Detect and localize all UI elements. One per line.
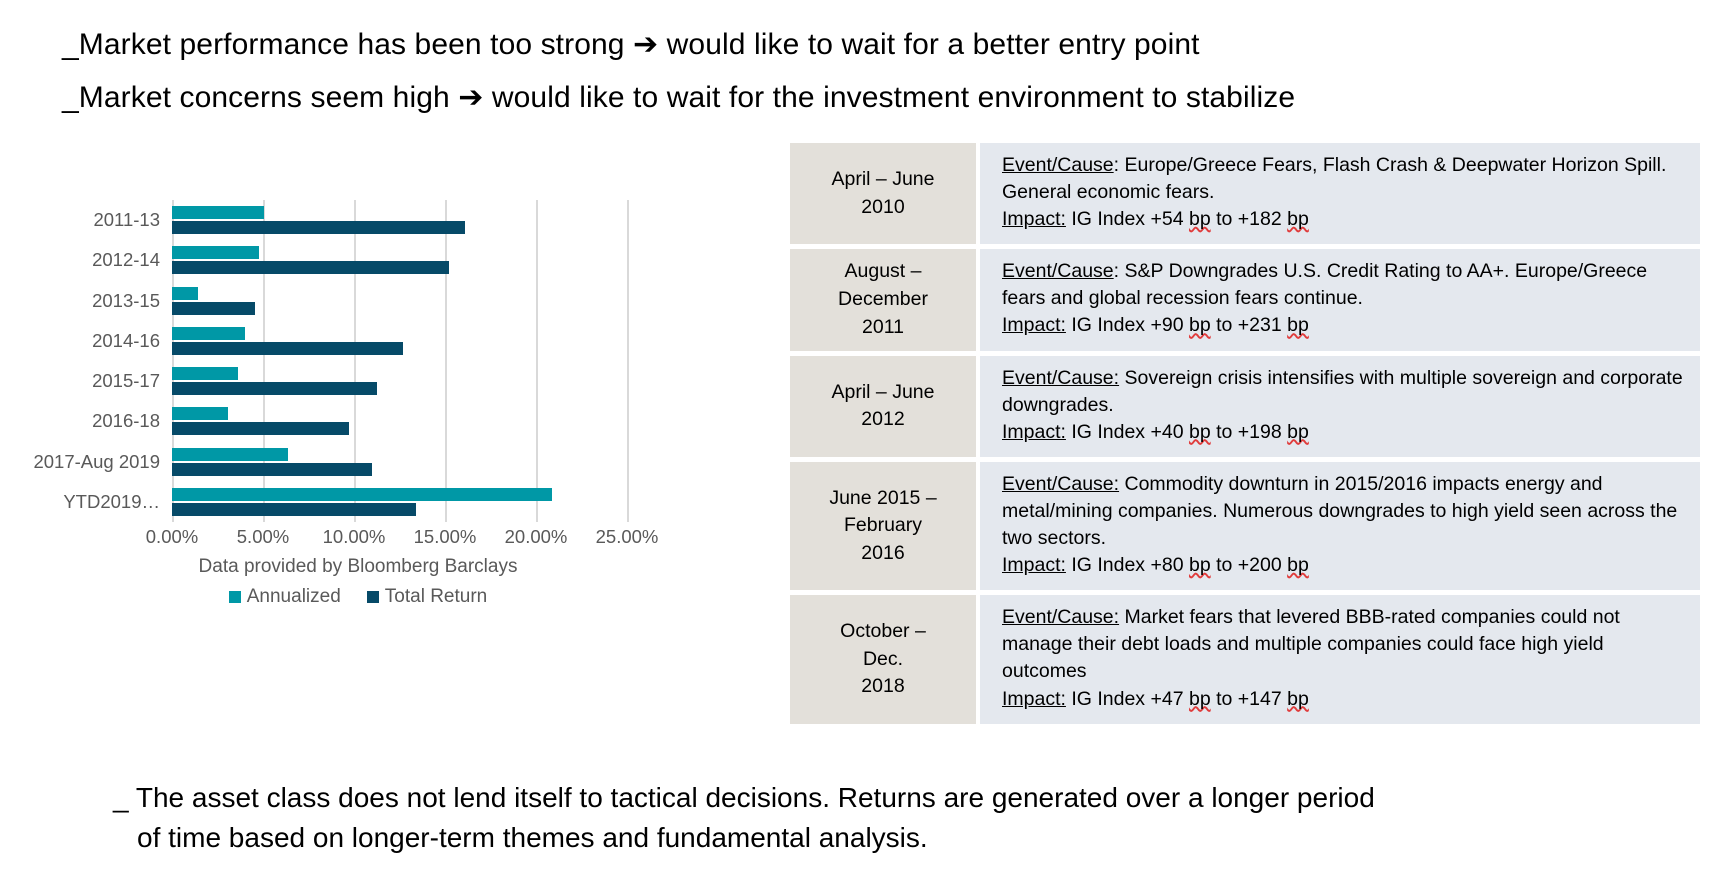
chart-category-label: 2016-18 <box>92 410 160 432</box>
chart-x-axis: 0.00%5.00%10.00%15.00%20.00%25.00% <box>172 526 627 552</box>
table-row: April – June 2012Event/Cause: Sovereign … <box>790 356 1700 457</box>
event-impact-line: Impact: IG Index +40 bp to +198 bp <box>1002 419 1688 446</box>
chart-x-tick-label: 10.00% <box>323 526 386 548</box>
chart-category-row: 2012-14 <box>172 240 627 280</box>
chart-category-label: 2015-17 <box>92 370 160 392</box>
event-cause-label: Event/Cause: <box>1002 367 1119 389</box>
chart-category-row: 2016-18 <box>172 401 627 441</box>
event-cause-line: Event/Cause: Europe/Greece Fears, Flash … <box>1002 152 1688 206</box>
legend-swatch-icon <box>229 591 241 603</box>
event-cause-label: Event/Cause: <box>1002 606 1119 628</box>
chart-category-row: YTD2019… <box>172 482 627 522</box>
event-cause-line: Event/Cause: Commodity downturn in 2015/… <box>1002 471 1688 552</box>
chart-x-tick-label: 25.00% <box>596 526 659 548</box>
event-impact-line: Impact: IG Index +80 bp to +200 bp <box>1002 552 1688 579</box>
chart-category-row: 2011-13 <box>172 200 627 240</box>
chart-category-label: YTD2019… <box>63 491 160 513</box>
table-row: April – June 2010Event/Cause: Europe/Gre… <box>790 143 1700 244</box>
chart-bar-total-return <box>172 221 465 234</box>
chart-category-row: 2013-15 <box>172 281 627 321</box>
event-cause-line: Event/Cause: Sovereign crisis intensifie… <box>1002 365 1688 419</box>
table-row: October – Dec. 2018Event/Cause: Market f… <box>790 595 1700 723</box>
event-cause-label: Event/Cause <box>1002 154 1114 176</box>
event-period-cell: August – December 2011 <box>790 249 976 350</box>
chart-bar-annualized <box>172 367 238 380</box>
event-impact-label: Impact: <box>1002 314 1066 336</box>
event-detail-cell: Event/Cause: Europe/Greece Fears, Flash … <box>980 143 1700 244</box>
table-row: June 2015 – February 2016Event/Cause: Co… <box>790 462 1700 590</box>
chart-bar-annualized <box>172 407 228 420</box>
chart-category-row: 2014-16 <box>172 321 627 361</box>
event-impact-line: Impact: IG Index +54 bp to +182 bp <box>1002 206 1688 233</box>
event-period-cell: October – Dec. 2018 <box>790 595 976 723</box>
chart-x-tick-label: 0.00% <box>146 526 198 548</box>
chart-legend-label: Total Return <box>385 586 487 608</box>
chart-x-tick-label: 20.00% <box>505 526 568 548</box>
chart-legend: AnnualizedTotal Return <box>0 586 716 608</box>
event-detail-cell: Event/Cause: S&P Downgrades U.S. Credit … <box>980 249 1700 350</box>
chart-bar-total-return <box>172 302 255 315</box>
headline-bullets: _Market performance has been too strong … <box>62 18 1702 125</box>
event-impact-label: Impact: <box>1002 688 1066 710</box>
performance-bar-chart: 2011-132012-142013-152014-162015-172016-… <box>0 188 716 688</box>
basis-point-unit: bp <box>1287 421 1309 443</box>
chart-category-row: 2017-Aug 2019 <box>172 442 627 482</box>
headline-line-1: _Market performance has been too strong … <box>62 18 1702 71</box>
chart-category-label: 2011-13 <box>93 209 160 231</box>
event-period-cell: June 2015 – February 2016 <box>790 462 976 590</box>
event-detail-cell: Event/Cause: Commodity downturn in 2015/… <box>980 462 1700 590</box>
chart-gridline <box>627 200 629 522</box>
event-period-cell: April – June 2010 <box>790 143 976 244</box>
legend-swatch-icon <box>367 591 379 603</box>
chart-x-tick-label: 5.00% <box>237 526 289 548</box>
event-cause-label: Event/Cause: <box>1002 473 1119 495</box>
chart-bar-total-return <box>172 422 349 435</box>
event-period-cell: April – June 2012 <box>790 356 976 457</box>
footer-line-1: _ The asset class does not lend itself t… <box>113 778 1673 818</box>
event-cause-line: Event/Cause: S&P Downgrades U.S. Credit … <box>1002 258 1688 312</box>
chart-bar-annualized <box>172 488 552 501</box>
chart-bar-annualized <box>172 206 264 219</box>
event-detail-cell: Event/Cause: Sovereign crisis intensifie… <box>980 356 1700 457</box>
chart-legend-label: Annualized <box>247 586 341 608</box>
chart-bar-total-return <box>172 261 449 274</box>
basis-point-unit: bp <box>1189 554 1211 576</box>
chart-plot-area: 2011-132012-142013-152014-162015-172016-… <box>172 200 627 522</box>
chart-bar-annualized <box>172 287 198 300</box>
table-row: August – December 2011Event/Cause: S&P D… <box>790 249 1700 350</box>
basis-point-unit: bp <box>1287 208 1309 230</box>
event-impact-line: Impact: IG Index +90 bp to +231 bp <box>1002 312 1688 339</box>
event-cause-line: Event/Cause: Market fears that levered B… <box>1002 604 1688 685</box>
event-impact-label: Impact: <box>1002 554 1066 576</box>
event-impact-label: Impact: <box>1002 421 1066 443</box>
basis-point-unit: bp <box>1189 421 1211 443</box>
chart-category-label: 2017-Aug 2019 <box>33 451 160 473</box>
event-impact-label: Impact: <box>1002 208 1066 230</box>
chart-x-tick-label: 15.00% <box>414 526 477 548</box>
basis-point-unit: bp <box>1189 688 1211 710</box>
chart-legend-item: Annualized <box>229 586 341 608</box>
chart-category-label: 2013-15 <box>92 290 160 312</box>
chart-bar-annualized <box>172 448 288 461</box>
chart-legend-item: Total Return <box>367 586 487 608</box>
basis-point-unit: bp <box>1287 554 1309 576</box>
footer-line-2: of time based on longer-term themes and … <box>113 818 1673 858</box>
chart-bar-total-return <box>172 382 377 395</box>
basis-point-unit: bp <box>1189 314 1211 336</box>
chart-category-label: 2012-14 <box>92 249 160 271</box>
chart-bar-annualized <box>172 327 245 340</box>
footer-bullets: _ The asset class does not lend itself t… <box>113 778 1673 858</box>
chart-category-row: 2015-17 <box>172 361 627 401</box>
chart-bar-annualized <box>172 246 259 259</box>
headline-line-2: _Market concerns seem high ➔ would like … <box>62 71 1702 124</box>
event-impact-line: Impact: IG Index +47 bp to +147 bp <box>1002 686 1688 713</box>
chart-bar-total-return <box>172 503 416 516</box>
basis-point-unit: bp <box>1287 314 1309 336</box>
event-detail-cell: Event/Cause: Market fears that levered B… <box>980 595 1700 723</box>
events-table: April – June 2010Event/Cause: Europe/Gre… <box>790 143 1700 724</box>
basis-point-unit: bp <box>1287 688 1309 710</box>
basis-point-unit: bp <box>1189 208 1211 230</box>
chart-bar-total-return <box>172 342 403 355</box>
chart-category-label: 2014-16 <box>92 330 160 352</box>
chart-bar-total-return <box>172 463 372 476</box>
chart-caption: Data provided by Bloomberg Barclays <box>0 556 716 578</box>
event-cause-label: Event/Cause <box>1002 260 1114 282</box>
